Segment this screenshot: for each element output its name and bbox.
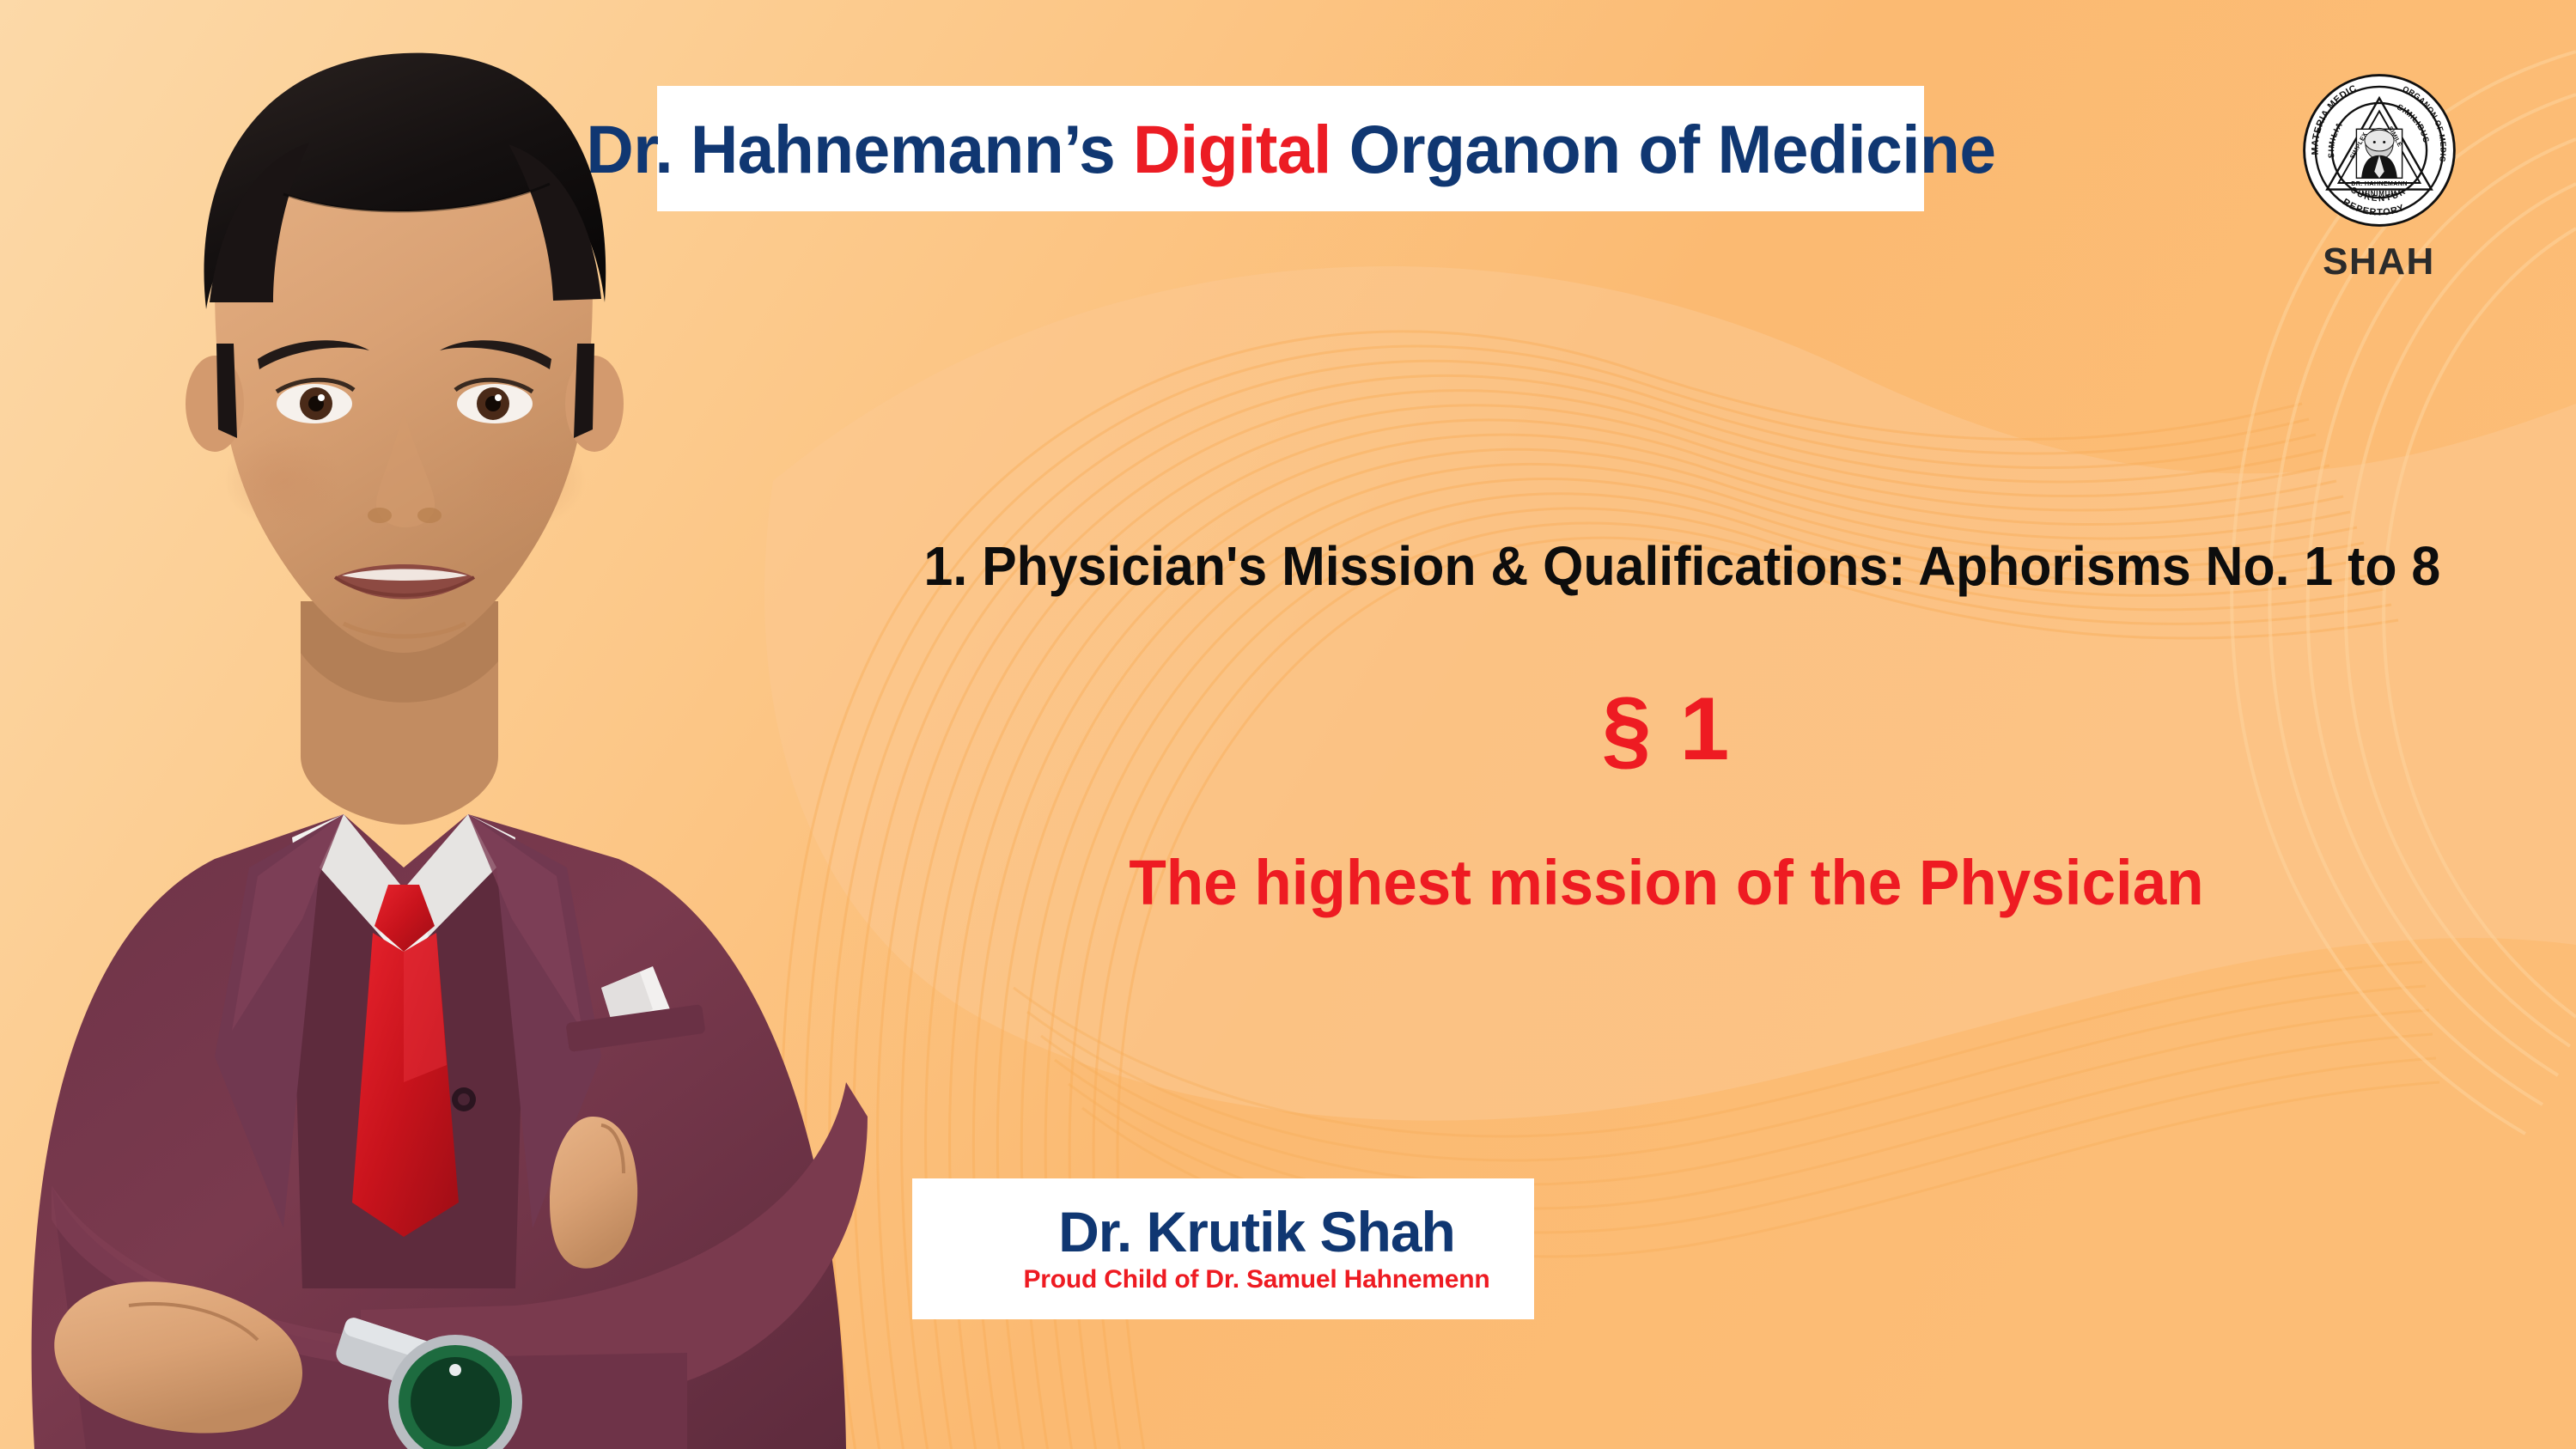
presenter-name: Dr. Krutik Shah bbox=[1058, 1203, 1455, 1261]
section-number: § 1 bbox=[885, 679, 2448, 781]
presenter-tagline: Proud Child of Dr. Samuel Hahnemenn bbox=[1023, 1265, 1489, 1294]
title-suffix: Organon of Medicine bbox=[1331, 111, 1995, 187]
title-accent-word: Digital bbox=[1133, 111, 1331, 187]
chapter-heading: 1. Physician's Mission & Qualifications:… bbox=[924, 534, 2409, 598]
page-title: Dr. Hahnemann’s Digital Organon of Medic… bbox=[586, 115, 1995, 183]
logo-triangle-bottom: MINIMUM bbox=[2361, 190, 2396, 198]
presenter-name-plate: Dr. Krutik Shah Proud Child of Dr. Samue… bbox=[912, 1178, 1534, 1319]
section-heading: The highest mission of the Physician bbox=[916, 846, 2416, 919]
logo-wordmark: SHAH bbox=[2278, 240, 2480, 283]
title-banner: Dr. Hahnemann’s Digital Organon of Medic… bbox=[657, 86, 1924, 211]
logo-portrait-caption: DR. HAHNEMANN bbox=[2351, 180, 2407, 187]
title-prefix: Dr. Hahnemann’s bbox=[586, 111, 1133, 187]
brand-logo: MATERIA MEDICA ORGANON OF MEDICINE REPER… bbox=[2278, 69, 2480, 283]
hahnemann-seal-icon: MATERIA MEDICA ORGANON OF MEDICINE REPER… bbox=[2298, 69, 2461, 232]
presenter-photo bbox=[0, 0, 971, 1449]
presentation-slide: Dr. Hahnemann’s Digital Organon of Medic… bbox=[0, 0, 2576, 1449]
